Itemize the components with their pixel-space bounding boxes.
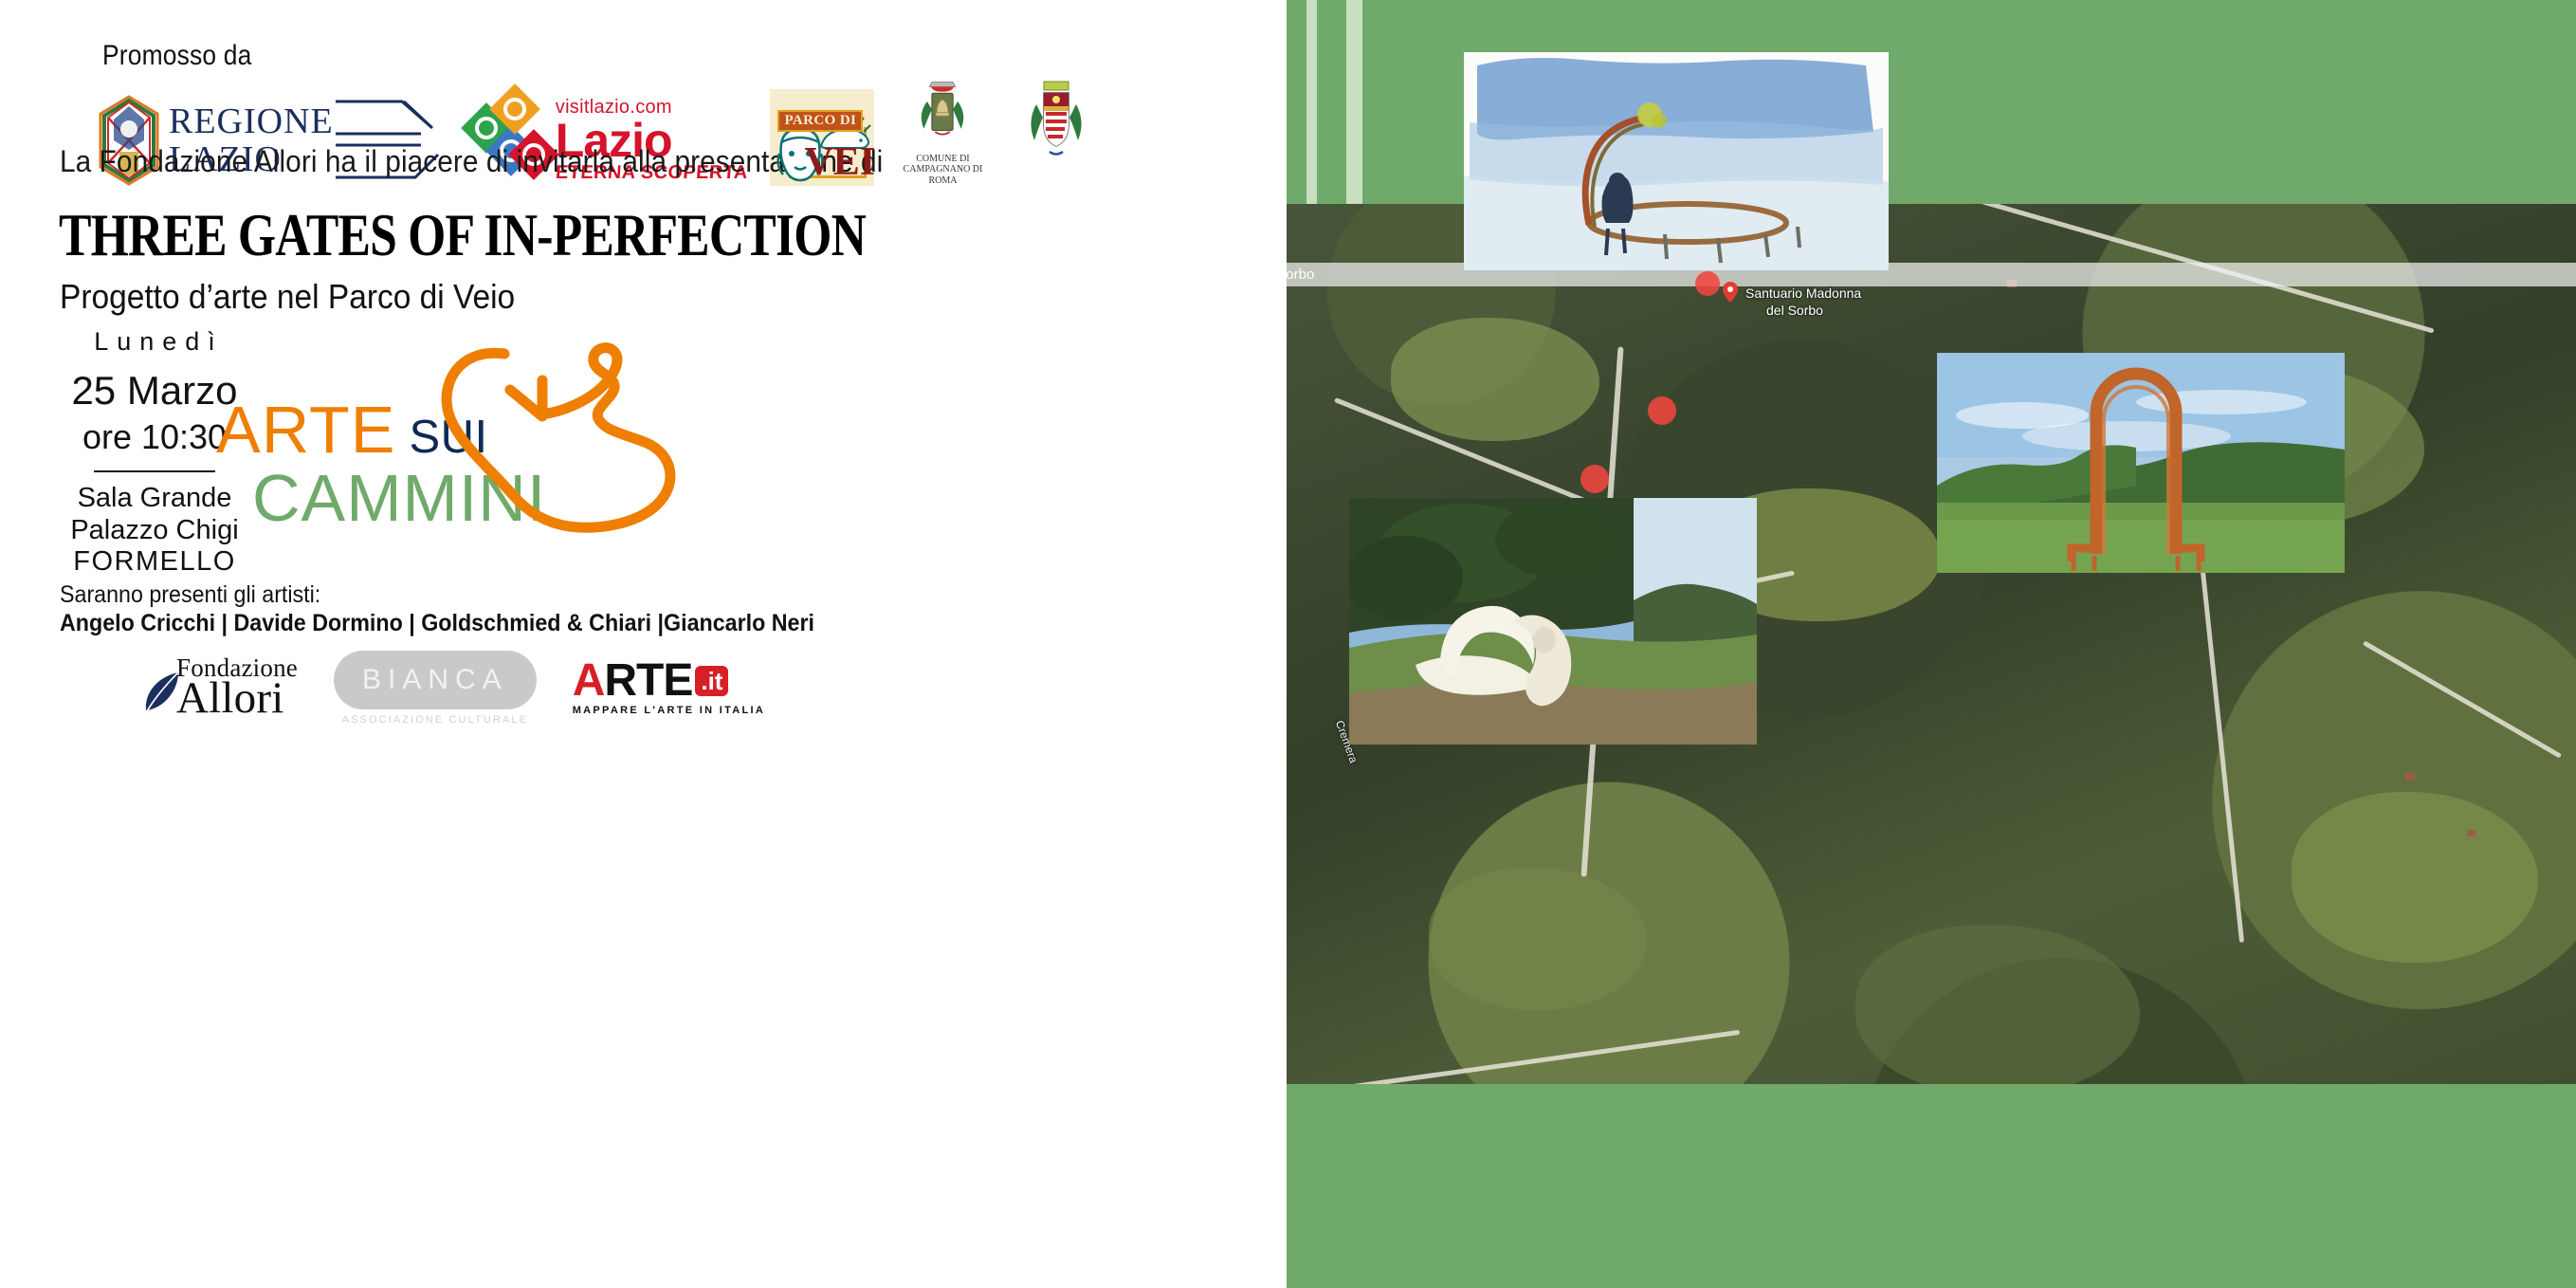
comune-formello-crest (1011, 74, 1102, 186)
artists-names: Angelo Cricchi | Davide Dormino | Goldsc… (60, 610, 814, 637)
event-weekday: Lunedì (60, 327, 249, 357)
map-marker (1580, 465, 1609, 493)
page-subtitle: Progetto d’arte nel Parco di Veio (60, 277, 515, 317)
leaf-icon (142, 671, 180, 718)
map-marker (1648, 396, 1676, 425)
venue-city: FORMELLO (60, 546, 249, 578)
watercolor-illustration (1464, 52, 1889, 270)
marble-sculpture-illustration (1349, 498, 1757, 745)
map-field (1429, 868, 1647, 1010)
bianca-pill: BIANCA (334, 651, 537, 709)
campagnano-caption: COMUNE DI CAMPAGNANO DI ROMA (897, 154, 988, 187)
map-building (2405, 773, 2415, 781)
map-marker (1695, 271, 1720, 296)
green-bottom-band (1287, 1084, 2576, 1288)
map-field (1391, 318, 1599, 441)
fondazione-allori-logo: Fondazione Allori (142, 656, 298, 719)
arte-it-wordmark: A RTE .it (573, 660, 765, 701)
footer-logo-row: Fondazione Allori BIANCA ASSOCIAZIONE CU… (142, 651, 765, 726)
map-field (2292, 792, 2538, 963)
promoted-by-label: Promosso da (102, 40, 272, 72)
walking-path-arrow-icon (436, 337, 702, 541)
watercolor-sketch (1464, 52, 1889, 270)
arch-sculpture-illustration (1937, 353, 2345, 573)
artists-label: Saranno presenti gli artisti: (60, 581, 320, 609)
allori-wordmark: Fondazione Allori (176, 656, 298, 719)
page-title: THREE GATES OF IN-PERFECTION (59, 201, 866, 270)
marble-sculpture-photo (1349, 498, 1757, 745)
arte-it-logo: A RTE .it MAPPARE L'ARTE IN ITALIA (573, 660, 765, 716)
brand-arte: ARTE (216, 396, 395, 463)
map-pin-icon (1723, 282, 1738, 303)
campagnano-coat-of-arms-icon (902, 74, 983, 152)
divider (94, 470, 215, 472)
collage-right-panel: Cremera Cremera Santuario Madonna del So… (1287, 0, 2576, 1288)
formello-coat-of-arms-icon (1015, 74, 1097, 178)
map-pin-label: Santuario Madonna del Sorbo (1745, 285, 1861, 319)
parco-di-veio-logo: PARCO DI VEIO (770, 89, 874, 186)
arch-sculpture-photo (1937, 353, 2345, 573)
invitation-left-panel: Promosso da REGIONE LAZIO (0, 0, 1287, 1288)
comune-campagnano-crest: COMUNE DI CAMPAGNANO DI ROMA (897, 74, 988, 186)
bianca-logo: BIANCA ASSOCIAZIONE CULTURALE (334, 651, 537, 726)
map-field (1855, 925, 2140, 1095)
invite-line: La Fondazione Allori ha il piacere di in… (60, 144, 883, 179)
map-building (2467, 830, 2476, 837)
